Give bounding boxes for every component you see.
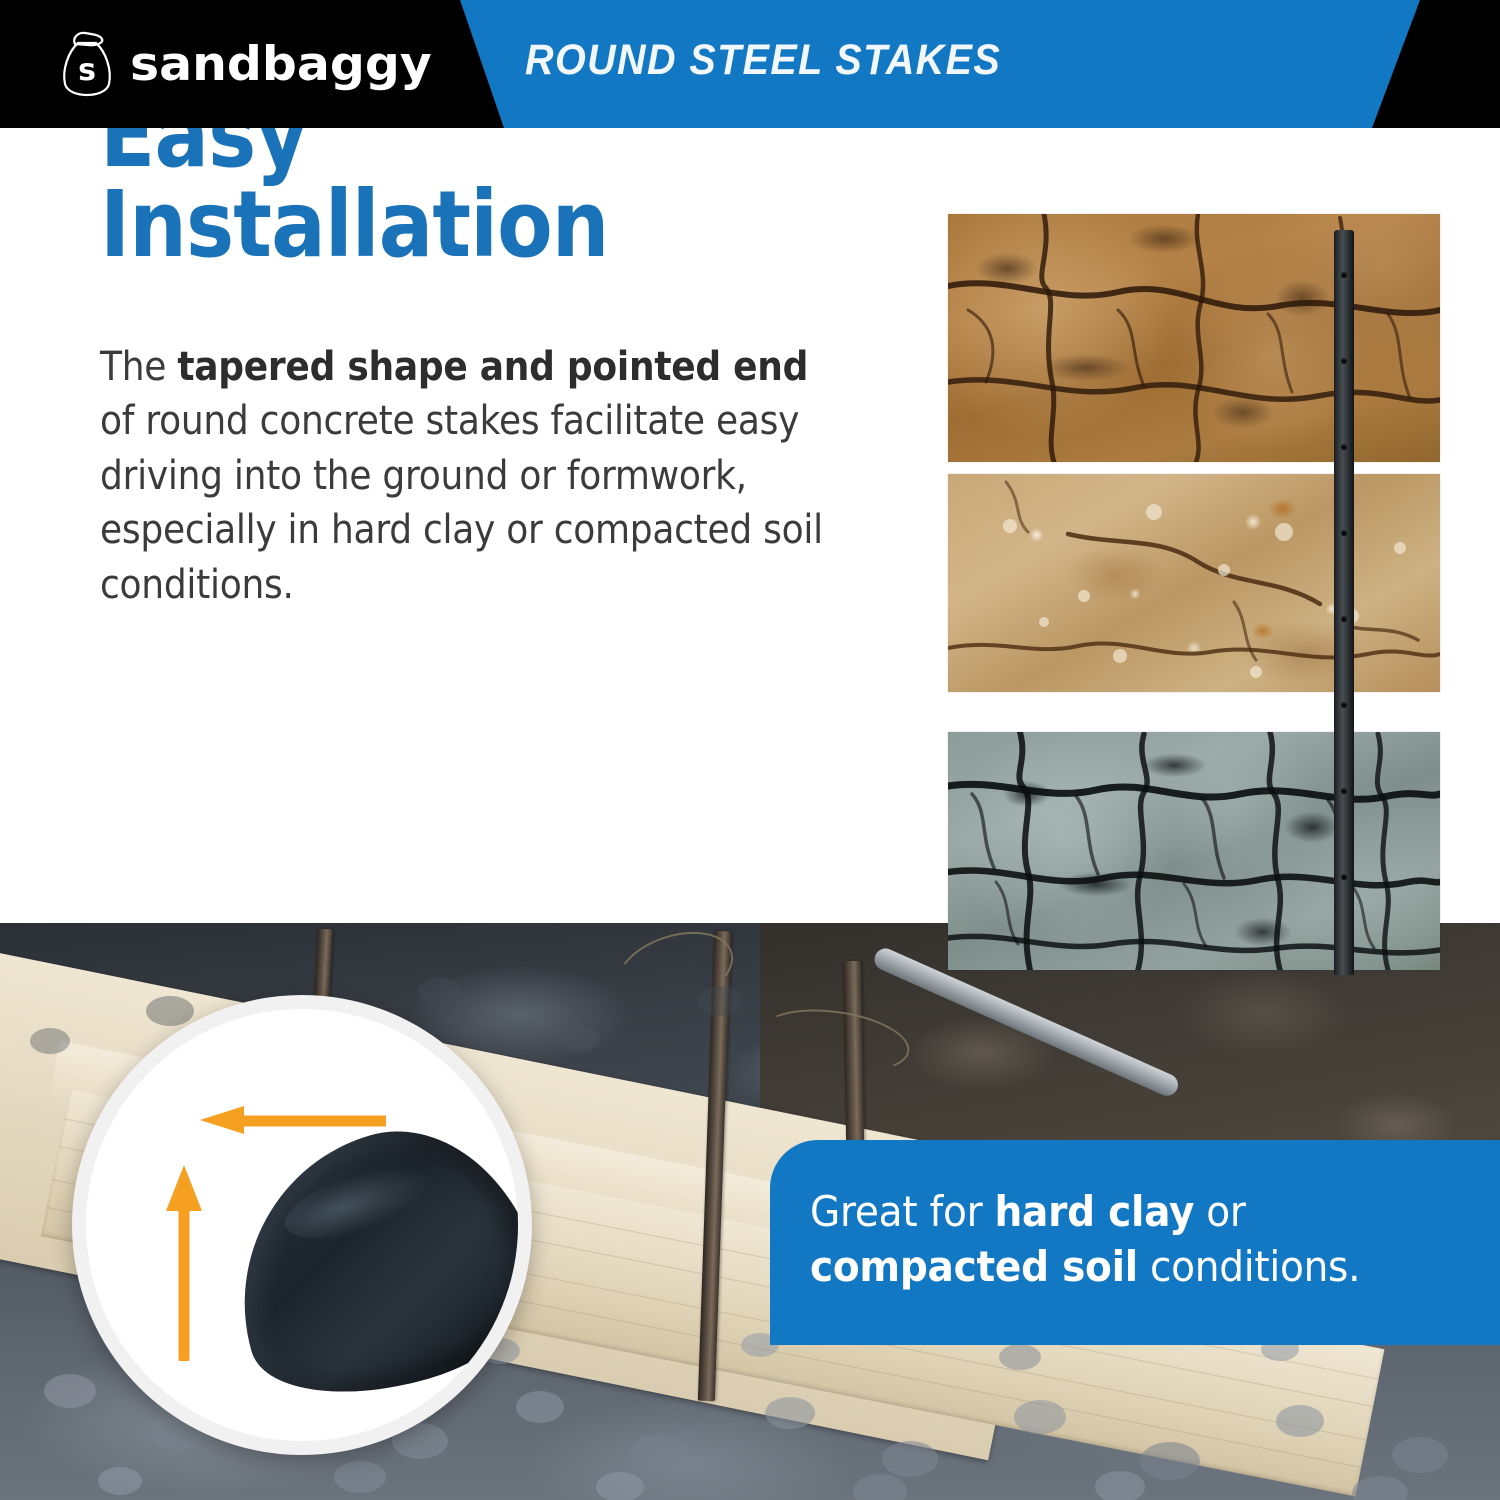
body-text-part-1: The: [100, 344, 177, 390]
body-text-part-2: of round concrete stakes facilitate easy…: [100, 398, 823, 607]
crack-pattern-brown: [948, 214, 1440, 462]
crack-pattern-tan: [948, 474, 1440, 692]
callout-part-3: conditions.: [1138, 1242, 1360, 1291]
body-text-bold-1: tapered shape and pointed end: [177, 344, 808, 390]
brand-logo[interactable]: s sandbaggy: [58, 28, 420, 100]
arrow-left-icon: [196, 1105, 386, 1135]
sandbag-icon: s: [58, 30, 116, 98]
header-bar: s sandbaggy ROUND STEEL STAKES: [0, 0, 1500, 128]
round-steel-stake-rod: [1334, 230, 1354, 975]
callout-text: Great for hard clay or compacted soil co…: [810, 1184, 1424, 1295]
arrow-up-icon: [164, 1161, 204, 1361]
headline-line-2: Installation: [100, 180, 609, 270]
callout-part-1: Great for: [810, 1187, 995, 1236]
brand-logo-text: sandbaggy: [130, 41, 432, 88]
crack-pattern-grey: [948, 732, 1440, 970]
soil-photo-tan-rocky-compacted: [948, 474, 1440, 692]
soil-photo-grey-cracked-clay: [948, 732, 1440, 970]
soil-photo-dry-cracked-brown-clay: [948, 214, 1440, 462]
header-title: ROUND STEEL STAKES: [525, 36, 1001, 85]
callout-part-2: or: [1194, 1187, 1246, 1236]
infographic-canvas: s sandbaggy ROUND STEEL STAKES Easy Inst…: [0, 0, 1500, 1500]
svg-text:s: s: [78, 53, 96, 88]
callout-bold-2: compacted soil: [810, 1242, 1138, 1291]
callout-banner: Great for hard clay or compacted soil co…: [770, 1140, 1500, 1345]
stake-tip-closeup-inset: [72, 995, 532, 1455]
callout-bold-1: hard clay: [995, 1187, 1195, 1236]
body-paragraph: The tapered shape and pointed end of rou…: [100, 340, 847, 612]
